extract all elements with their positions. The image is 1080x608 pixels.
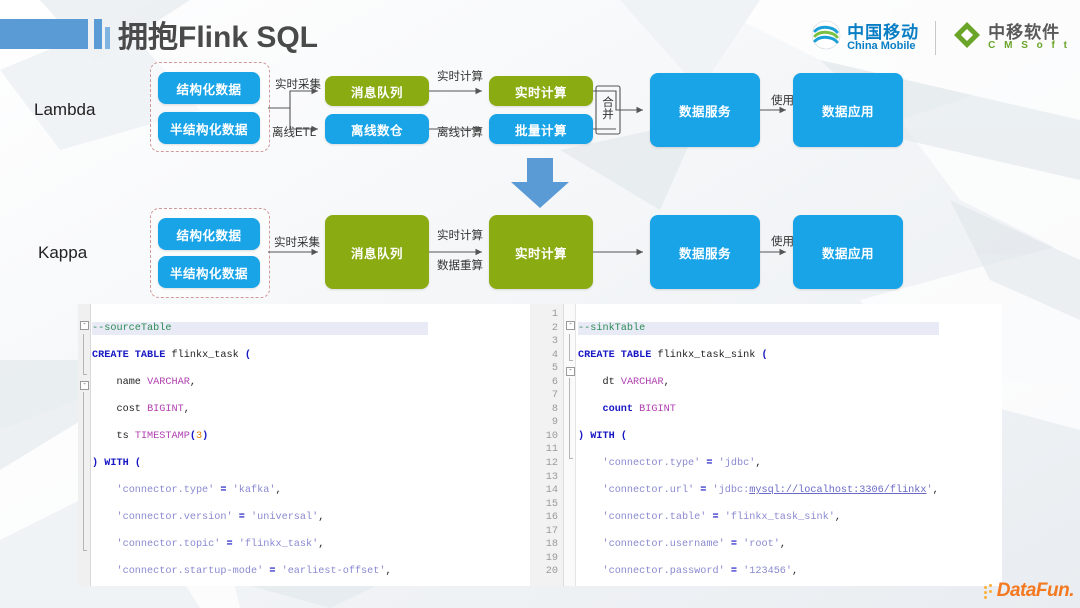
line-number: 6 — [530, 376, 563, 390]
fold-end-create-right — [569, 360, 573, 361]
fold-gutter-right[interactable] — [564, 304, 576, 586]
title-accent-block — [0, 19, 88, 49]
fold-end-create — [83, 374, 87, 375]
line-number-gutter: 1 2 3 4 5 6 7 8 9 10 11 12 13 14 15 16 1… — [530, 304, 564, 586]
code-text-left[interactable]: --sourceTable CREATE TABLE flinkx_task (… — [92, 308, 428, 586]
fold-line-with-right — [569, 378, 570, 458]
line-number: 5 — [530, 362, 563, 376]
fold-line-create — [83, 334, 84, 374]
fold-toggle-create[interactable]: - — [80, 321, 89, 330]
line-number: 8 — [530, 403, 563, 417]
fold-line-with — [83, 392, 84, 550]
line-number: 7 — [530, 389, 563, 403]
line-number: 13 — [530, 471, 563, 485]
fold-toggle-with[interactable]: - — [80, 381, 89, 390]
line-number: 3 — [530, 335, 563, 349]
datafun-logo: DataFun. — [984, 580, 1074, 602]
code-text-right[interactable]: --sinkTable CREATE TABLE flinkx_task_sin… — [578, 308, 939, 586]
line-number: 16 — [530, 511, 563, 525]
datafun-wordmark: DataFun. — [997, 580, 1074, 602]
title-accent-tick-tall — [94, 19, 102, 49]
fold-toggle-create-right[interactable]: - — [566, 321, 575, 330]
line-number: 19 — [530, 552, 563, 566]
china-mobile-name-cn: 中国移动 — [847, 24, 919, 41]
line-number: 1 — [530, 308, 563, 322]
datafun-dots-icon — [984, 584, 996, 598]
logo-divider — [935, 21, 936, 55]
cmsoft-logo: 中移软件 C M S o f t — [952, 20, 1070, 55]
fold-end-with-right — [569, 458, 573, 459]
cmsoft-name-en: C M S o f t — [988, 41, 1070, 51]
fold-line-create-right — [569, 334, 570, 360]
line-number: 14 — [530, 484, 563, 498]
code-pane-sink-table[interactable]: 1 2 3 4 5 6 7 8 9 10 11 12 13 14 15 16 1… — [530, 304, 1002, 586]
logo-area: 中国移动 China Mobile 中移软件 C M S o f t — [811, 20, 1070, 55]
line-number: 11 — [530, 443, 563, 457]
slide-header: 拥抱Flink SQL 中国移动 China Mobile — [0, 0, 1080, 70]
cmsoft-diamond-icon — [952, 20, 982, 55]
fold-end-with — [83, 550, 87, 551]
china-mobile-name-en: China Mobile — [847, 41, 919, 52]
line-number: 12 — [530, 457, 563, 471]
line-number: 4 — [530, 349, 563, 363]
china-mobile-logo: 中国移动 China Mobile — [811, 20, 919, 55]
line-number: 10 — [530, 430, 563, 444]
fold-gutter-left[interactable] — [78, 304, 91, 586]
code-panels: - - --sourceTable CREATE TABLE flinkx_ta… — [78, 304, 1002, 586]
line-number: 2 — [530, 322, 563, 336]
title-accent-tick-short — [105, 27, 110, 49]
china-mobile-mark-icon — [811, 20, 841, 55]
cmsoft-name-cn: 中移软件 — [988, 24, 1070, 41]
line-number: 20 — [530, 565, 563, 579]
line-number: 18 — [530, 538, 563, 552]
page-title: 拥抱Flink SQL — [118, 12, 318, 56]
line-number: 17 — [530, 525, 563, 539]
code-pane-source-table[interactable]: - - --sourceTable CREATE TABLE flinkx_ta… — [78, 304, 530, 586]
line-number: 15 — [530, 498, 563, 512]
fold-toggle-with-right[interactable]: - — [566, 367, 575, 376]
line-number: 9 — [530, 416, 563, 430]
